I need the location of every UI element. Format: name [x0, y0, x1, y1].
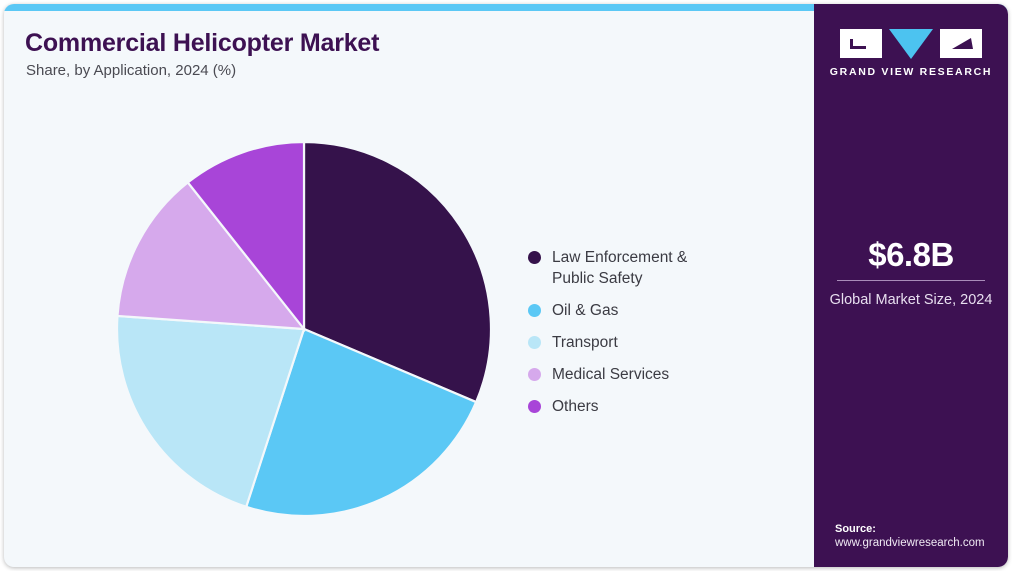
- page-title: Commercial Helicopter Market: [25, 29, 379, 58]
- logo-marks: [814, 29, 1008, 59]
- pie-chart-svg: [110, 135, 498, 523]
- legend-swatch-icon: [528, 400, 541, 413]
- page-subtitle: Share, by Application, 2024 (%): [26, 62, 236, 79]
- chart-panel: Commercial Helicopter Market Share, by A…: [4, 11, 814, 567]
- logo-g-icon: [840, 29, 882, 58]
- legend-label: Law Enforcement & Public Safety: [552, 247, 727, 289]
- legend-swatch-icon: [528, 368, 541, 381]
- source-block: Source: www.grandviewresearch.com: [835, 523, 1005, 549]
- logo-wordmark: GRAND VIEW RESEARCH: [814, 66, 1008, 78]
- legend-item[interactable]: Transport: [528, 332, 790, 353]
- market-size-block: $6.8B Global Market Size, 2024: [814, 236, 1008, 310]
- chart-legend: Law Enforcement & Public SafetyOil & Gas…: [528, 247, 790, 428]
- source-label: Source:: [835, 523, 1005, 535]
- legend-swatch-icon: [528, 304, 541, 317]
- legend-item[interactable]: Others: [528, 396, 790, 417]
- market-size-value: $6.8B: [814, 236, 1008, 274]
- legend-label: Medical Services: [552, 364, 669, 385]
- infographic-card: Commercial Helicopter Market Share, by A…: [4, 4, 1008, 567]
- legend-label: Transport: [552, 332, 618, 353]
- logo-v-triangle-icon: [889, 29, 933, 59]
- logo-r-icon: [940, 29, 982, 58]
- legend-label: Others: [552, 396, 599, 417]
- legend-swatch-icon: [528, 336, 541, 349]
- source-url[interactable]: www.grandviewresearch.com: [835, 537, 1005, 549]
- legend-item[interactable]: Law Enforcement & Public Safety: [528, 247, 790, 289]
- legend-swatch-icon: [528, 251, 541, 264]
- legend-item[interactable]: Oil & Gas: [528, 300, 790, 321]
- brand-sidebar: GRAND VIEW RESEARCH $6.8B Global Market …: [814, 4, 1008, 567]
- pie-chart: [110, 135, 498, 523]
- legend-label: Oil & Gas: [552, 300, 618, 321]
- legend-item[interactable]: Medical Services: [528, 364, 790, 385]
- brand-logo: GRAND VIEW RESEARCH: [814, 29, 1008, 78]
- market-divider: [837, 280, 985, 281]
- pie-slice-group: [117, 142, 491, 516]
- market-size-caption: Global Market Size, 2024: [814, 290, 1008, 310]
